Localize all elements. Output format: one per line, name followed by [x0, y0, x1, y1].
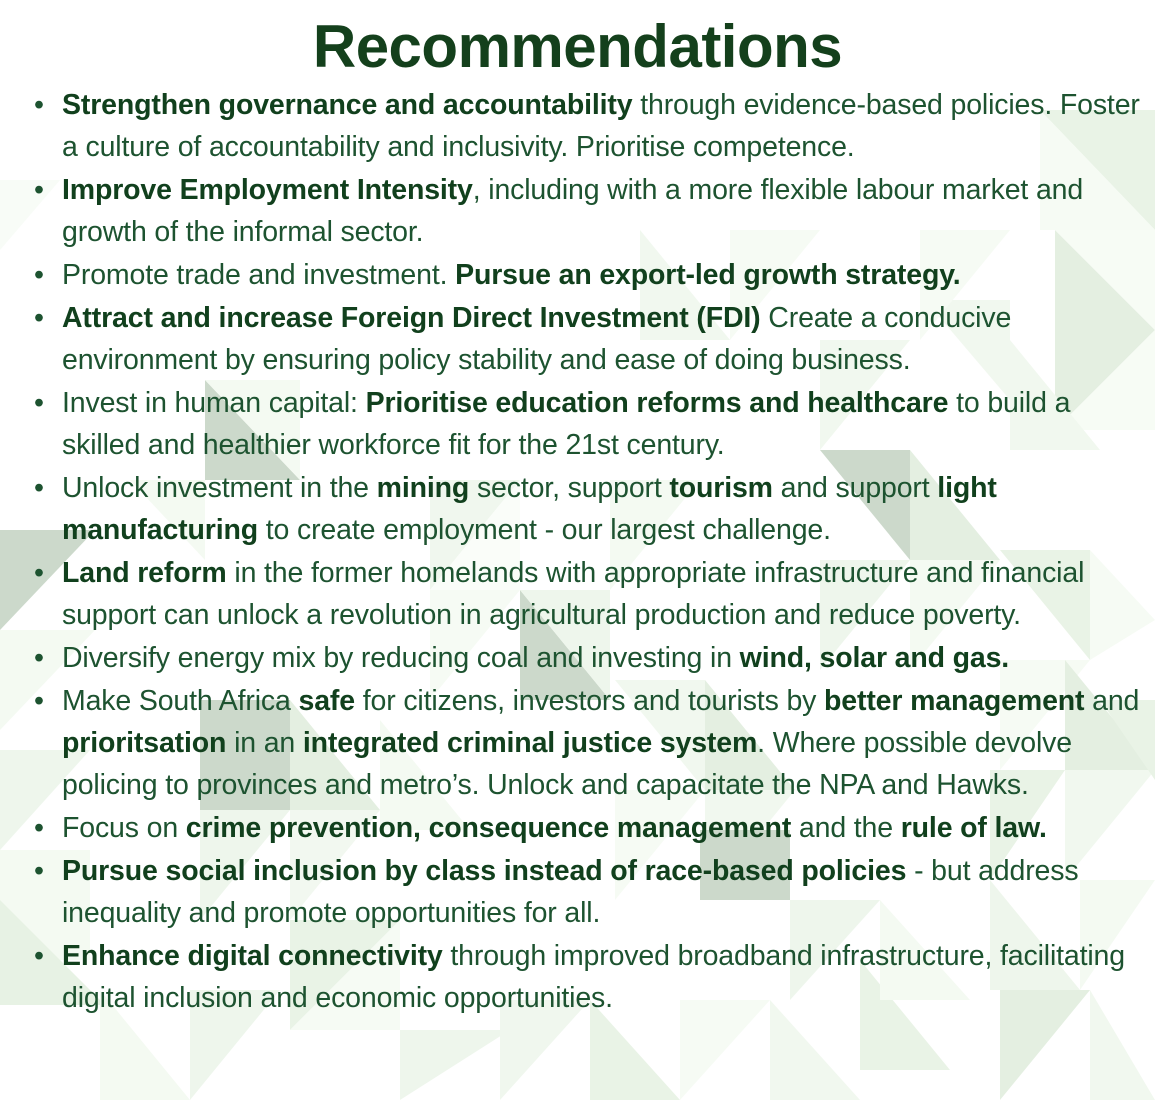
text-run: Focus on — [62, 812, 186, 844]
bullet-dot-icon: • — [34, 850, 48, 892]
list-item-text: Attract and increase Foreign Direct Inve… — [62, 302, 1011, 376]
list-item-text: Pursue social inclusion by class instead… — [62, 855, 1078, 929]
list-item: •Invest in human capital: Prioritise edu… — [0, 382, 1145, 466]
list-item: •Land reform in the former homelands wit… — [0, 552, 1145, 636]
bullet-dot-icon: • — [34, 637, 48, 679]
text-run-bold: Land reform — [62, 557, 227, 589]
list-item-text: Strengthen governance and accountability… — [62, 89, 1140, 163]
text-run: Invest in human capital: — [62, 387, 366, 419]
list-item-text: Make South Africa safe for citizens, inv… — [62, 685, 1139, 801]
text-run: Diversify energy mix by reducing coal an… — [62, 642, 740, 674]
bullet-dot-icon: • — [34, 254, 48, 296]
text-run-bold: Enhance digital connectivity — [62, 940, 443, 972]
list-item-text: Diversify energy mix by reducing coal an… — [62, 642, 1009, 674]
text-run-bold: Improve Employment Intensity — [62, 174, 473, 206]
slide-body: Recommendations •Strengthen governance a… — [0, 0, 1155, 1100]
list-item: •Promote trade and investment. Pursue an… — [0, 254, 1145, 296]
text-run-bold: Strengthen governance and accountability — [62, 89, 632, 121]
text-run-bold: Pursue social inclusion by class instead… — [62, 855, 906, 887]
recommendations-list: •Strengthen governance and accountabilit… — [0, 84, 1155, 1019]
text-run: and the — [791, 812, 901, 844]
bullet-dot-icon: • — [34, 467, 48, 509]
list-item: •Attract and increase Foreign Direct Inv… — [0, 297, 1145, 381]
list-item: •Improve Employment Intensity, including… — [0, 169, 1145, 253]
list-item-text: Improve Employment Intensity, including … — [62, 174, 1083, 248]
list-item-text: Focus on crime prevention, consequence m… — [62, 812, 1047, 844]
bullet-dot-icon: • — [34, 680, 48, 722]
text-run-bold: safe — [299, 685, 355, 717]
text-run: Make South Africa — [62, 685, 299, 717]
text-run-bold: crime prevention, consequence management — [186, 812, 791, 844]
page-title: Recommendations — [0, 0, 1155, 84]
list-item: •Pursue social inclusion by class instea… — [0, 850, 1145, 934]
list-item: •Diversify energy mix by reducing coal a… — [0, 637, 1145, 679]
text-run-bold: Prioritise education reforms and healthc… — [366, 387, 949, 419]
bullet-dot-icon: • — [34, 935, 48, 977]
text-run: for citizens, investors and tourists by — [355, 685, 824, 717]
list-item: •Enhance digital connectivity through im… — [0, 935, 1145, 1019]
text-run-bold: Pursue an export-led growth strategy. — [455, 259, 960, 291]
bullet-dot-icon: • — [34, 382, 48, 424]
text-run-bold: rule of law. — [901, 812, 1047, 844]
bullet-dot-icon: • — [34, 84, 48, 126]
text-run-bold: Attract and increase Foreign Direct Inve… — [62, 302, 761, 334]
bullet-dot-icon: • — [34, 297, 48, 339]
bullet-dot-icon: • — [34, 169, 48, 211]
list-item: •Make South Africa safe for citizens, in… — [0, 680, 1145, 806]
text-run: in an — [226, 727, 303, 759]
bullet-dot-icon: • — [34, 552, 48, 594]
text-run-bold: integrated criminal justice system — [303, 727, 757, 759]
bullet-dot-icon: • — [34, 807, 48, 849]
text-run: and — [1084, 685, 1139, 717]
list-item-text: Invest in human capital: Prioritise educ… — [62, 387, 1070, 461]
list-item: •Unlock investment in the mining sector,… — [0, 467, 1145, 551]
text-run: to create employment - our largest chall… — [258, 514, 831, 546]
list-item: •Focus on crime prevention, consequence … — [0, 807, 1145, 849]
text-run: Unlock investment in the — [62, 472, 377, 504]
list-item-text: Unlock investment in the mining sector, … — [62, 472, 997, 546]
list-item: •Strengthen governance and accountabilit… — [0, 84, 1145, 168]
text-run: sector, support — [469, 472, 669, 504]
list-item-text: Enhance digital connectivity through imp… — [62, 940, 1125, 1014]
text-run: Promote trade and investment. — [62, 259, 455, 291]
text-run-bold: tourism — [669, 472, 772, 504]
text-run-bold: wind, solar and gas. — [740, 642, 1009, 674]
list-item-text: Land reform in the former homelands with… — [62, 557, 1084, 631]
text-run-bold: better management — [824, 685, 1084, 717]
text-run-bold: prioritsation — [62, 727, 226, 759]
list-item-text: Promote trade and investment. Pursue an … — [62, 259, 961, 291]
text-run-bold: mining — [377, 472, 470, 504]
text-run: and support — [773, 472, 937, 504]
